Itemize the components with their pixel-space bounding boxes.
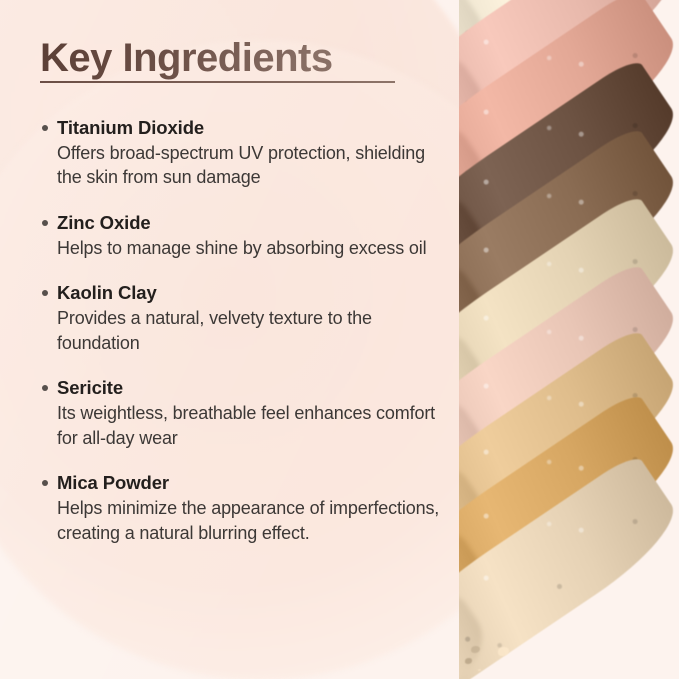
powder-crumb bbox=[489, 266, 495, 271]
ingredient-name: Mica Powder bbox=[57, 471, 448, 495]
powder-crumb bbox=[484, 567, 489, 571]
powder-crumb bbox=[496, 339, 505, 346]
powder-crumb bbox=[500, 51, 509, 58]
powder-band bbox=[459, 452, 679, 679]
powder-crumb bbox=[487, 40, 491, 43]
ingredient-name: Zinc Oxide bbox=[57, 211, 448, 235]
list-item: Mica Powder Helps minimize the appearanc… bbox=[38, 471, 448, 545]
content-column: Key Ingredients Titanium Dioxide Offers … bbox=[0, 0, 470, 679]
list-item: Sericite Its weightless, breathable feel… bbox=[38, 376, 448, 450]
powder-crumb bbox=[474, 85, 482, 91]
powder-band bbox=[459, 124, 679, 388]
powder-crumb bbox=[497, 624, 507, 632]
powder-band bbox=[459, 326, 679, 590]
bullet-icon bbox=[42, 290, 48, 296]
ingredient-name: Kaolin Clay bbox=[57, 281, 448, 305]
powder-crumb bbox=[503, 462, 506, 464]
powder-crumb bbox=[478, 669, 481, 671]
powder-crumb bbox=[482, 191, 485, 193]
powder-crumb bbox=[471, 556, 480, 563]
powder-crumb bbox=[469, 288, 476, 294]
powder-crumb bbox=[488, 179, 493, 183]
powder-crumb bbox=[477, 496, 488, 505]
powder-crumb bbox=[495, 254, 503, 260]
powder-crumb bbox=[504, 591, 508, 594]
powder-crumb bbox=[475, 224, 484, 231]
powder-band bbox=[459, 260, 679, 524]
powder-crumb bbox=[497, 522, 507, 530]
powder-band bbox=[459, 0, 679, 250]
ingredient-description: Offers broad-spectrum UV protection, shi… bbox=[57, 141, 448, 190]
powder-crumb bbox=[502, 327, 513, 336]
powder-crumb bbox=[502, 277, 513, 286]
ingredient-description: Its weightless, breathable feel enhances… bbox=[57, 401, 448, 450]
powder-crumb bbox=[488, 127, 493, 131]
bullet-icon bbox=[42, 220, 48, 226]
powder-crumb bbox=[489, 316, 495, 321]
powder-crumb bbox=[476, 411, 486, 419]
ingredients-infographic: Key Ingredients Titanium Dioxide Offers … bbox=[0, 0, 679, 679]
powder-band bbox=[459, 0, 679, 180]
powder-crumb bbox=[500, 1, 509, 8]
powder-crumb bbox=[495, 202, 503, 208]
powder-band bbox=[459, 0, 679, 42]
powder-crumb bbox=[483, 484, 487, 487]
powder-band bbox=[459, 0, 679, 110]
powder-crumb bbox=[477, 544, 488, 553]
powder-crumb bbox=[476, 361, 486, 369]
powder-crumb bbox=[475, 276, 484, 283]
powder-crumb bbox=[481, 52, 492, 61]
ingredient-description: Helps to manage shine by absorbing exces… bbox=[57, 236, 448, 261]
ingredient-list: Titanium Dioxide Offers broad-spectrum U… bbox=[38, 116, 448, 545]
powder-crumb bbox=[482, 299, 485, 301]
powder-crumb bbox=[482, 349, 485, 351]
powder-crumb bbox=[490, 555, 497, 561]
list-item: Zinc Oxide Helps to manage shine by abso… bbox=[38, 211, 448, 260]
page-title: Key Ingredients bbox=[40, 36, 395, 80]
title-underline bbox=[40, 81, 395, 83]
powder-crumb bbox=[469, 338, 476, 344]
powder-crumb bbox=[484, 613, 489, 617]
ingredient-description: Provides a natural, velvety texture to t… bbox=[57, 306, 448, 355]
powder-swatch-graphic bbox=[459, 0, 679, 679]
powder-crumb bbox=[496, 389, 505, 396]
powder-crumb bbox=[471, 646, 480, 653]
powder-band bbox=[459, 390, 679, 654]
page-title-block: Key Ingredients bbox=[40, 36, 395, 83]
powder-crumb bbox=[490, 451, 497, 457]
powder-crumb bbox=[489, 422, 495, 427]
ingredient-name: Sericite bbox=[57, 376, 448, 400]
powder-crumb bbox=[480, 23, 490, 31]
powder-crumb bbox=[470, 423, 478, 429]
ingredient-name: Titanium Dioxide bbox=[57, 116, 448, 140]
bullet-icon bbox=[42, 385, 48, 391]
powder-crumb bbox=[501, 190, 511, 198]
powder-crumb bbox=[503, 412, 506, 414]
powder-crumb bbox=[501, 138, 511, 146]
powder-crumb bbox=[494, 63, 501, 69]
powder-crumb bbox=[498, 647, 509, 656]
powder-crumb bbox=[503, 566, 506, 568]
list-item: Titanium Dioxide Offers broad-spectrum U… bbox=[38, 116, 448, 190]
bullet-icon bbox=[42, 480, 48, 486]
powder-crumb bbox=[483, 434, 487, 437]
powder-crumb bbox=[481, 160, 492, 169]
bullet-icon bbox=[42, 125, 48, 131]
powder-crumb bbox=[496, 495, 505, 502]
list-item: Kaolin Clay Provides a natural, velvety … bbox=[38, 281, 448, 355]
powder-crumb bbox=[491, 580, 499, 586]
powder-band bbox=[459, 56, 679, 320]
powder-crumb bbox=[475, 116, 484, 123]
powder-crumb bbox=[470, 473, 478, 479]
powder-crumb bbox=[471, 602, 480, 609]
powder-crumb bbox=[478, 625, 481, 627]
powder-band bbox=[459, 192, 679, 456]
ingredient-description: Helps minimize the appearance of imperfe… bbox=[57, 496, 448, 545]
powder-crumb bbox=[494, 115, 501, 121]
